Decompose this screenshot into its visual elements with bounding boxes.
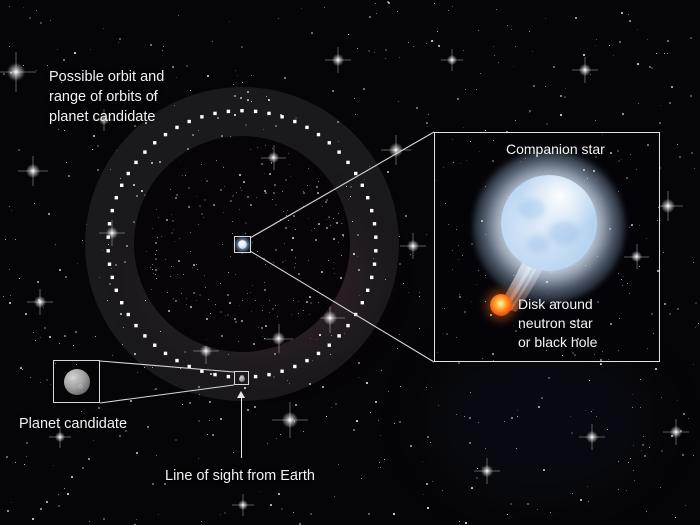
orbit-dot: [267, 373, 270, 376]
central-object-box[interactable]: [234, 236, 251, 253]
orbit-dot: [280, 115, 283, 118]
orbit-dot: [175, 359, 178, 362]
orbit-range-label: Possible orbit and range of orbits of pl…: [49, 67, 164, 127]
orbit-dot: [200, 115, 203, 118]
orbit-dot: [366, 196, 369, 199]
orbit-dot: [227, 375, 230, 378]
orbit-dot: [267, 112, 270, 115]
orbit-dot: [254, 110, 257, 113]
orbit-dot: [370, 209, 373, 212]
orbit-dot: [213, 373, 216, 376]
star-mottle-3: [527, 235, 549, 253]
star-mottle-1: [519, 199, 545, 219]
orbit-dot: [346, 324, 349, 327]
accretion-disk-icon: [490, 294, 512, 316]
orbit-dot: [153, 141, 156, 144]
orbit-dot: [175, 126, 178, 129]
blue-star-icon: [501, 175, 597, 271]
orbit-dot: [354, 172, 357, 175]
planet-sphere-icon: [239, 376, 245, 382]
orbit-dot: [115, 289, 118, 292]
star-speck: [659, 174, 660, 176]
orbit-dot: [188, 365, 191, 368]
line-of-sight-label: Line of sight from Earth: [165, 466, 315, 486]
astronomy-diagram: Possible orbit and range of orbits of pl…: [0, 0, 700, 525]
orbit-dot: [305, 126, 308, 129]
planet-crater-2: [78, 384, 83, 389]
planet-candidate-box[interactable]: [53, 360, 100, 403]
orbit-dot: [373, 222, 376, 225]
orbit-dot: [373, 263, 376, 266]
orbit-dot: [111, 209, 114, 212]
orbit-dot: [120, 301, 123, 304]
orbit-dot: [305, 359, 308, 362]
orbit-dot: [107, 249, 110, 252]
orbit-dot: [317, 133, 320, 136]
orbit-dot: [227, 110, 230, 113]
orbit-dot: [328, 141, 331, 144]
planet-candidate-label: Planet candidate: [19, 414, 127, 434]
star-speck: [659, 315, 660, 316]
orbit-dot: [108, 222, 111, 225]
orbit-dot: [328, 344, 331, 347]
orbit-dot: [134, 324, 137, 327]
orbit-dot: [188, 120, 191, 123]
orbit-dot: [354, 313, 357, 316]
orbit-dot: [293, 120, 296, 123]
orbit-dot: [127, 313, 130, 316]
orbit-dot: [127, 172, 130, 175]
orbit-dot: [164, 352, 167, 355]
orbit-dot: [280, 370, 283, 373]
disk-label: Disk around neutron star or black hole: [518, 295, 597, 352]
orbit-dot: [108, 263, 111, 266]
orbit-dot: [164, 133, 167, 136]
star-mottle-2: [549, 221, 579, 245]
orbit-dot: [143, 150, 146, 153]
binary-system-inset-panel: Companion star Disk around neutron star …: [434, 132, 660, 362]
orbit-dot: [337, 334, 340, 337]
planet-candidate-sphere: [64, 369, 90, 395]
orbit-dot: [153, 344, 156, 347]
orbit-dot: [293, 365, 296, 368]
orbit-dot: [213, 112, 216, 115]
planet-crater-1: [70, 376, 76, 380]
companion-star-label: Companion star: [506, 140, 605, 159]
orbit-dot: [317, 352, 320, 355]
orbit-dot: [254, 375, 257, 378]
orbit-marker-box[interactable]: [234, 371, 249, 385]
orbit-dot: [120, 184, 123, 187]
orbit-dot: [107, 236, 110, 239]
orbit-dot: [361, 184, 364, 187]
line-of-sight-shaft: [241, 398, 242, 458]
orbit-dot: [370, 276, 373, 279]
orbit-dot: [366, 289, 369, 292]
orbit-dot: [337, 150, 340, 153]
orbit-dot: [115, 196, 118, 199]
orbit-dot: [361, 301, 364, 304]
binary-star-icon: [238, 240, 247, 249]
orbit-dot: [374, 249, 377, 252]
up-arrow-icon: [237, 391, 245, 398]
orbit-dot: [374, 236, 377, 239]
orbit-dot: [240, 109, 243, 112]
orbit-dot: [143, 334, 146, 337]
orbit-dot: [346, 161, 349, 164]
orbit-dot: [111, 276, 114, 279]
orbit-dot: [134, 161, 137, 164]
orbit-dot: [200, 370, 203, 373]
